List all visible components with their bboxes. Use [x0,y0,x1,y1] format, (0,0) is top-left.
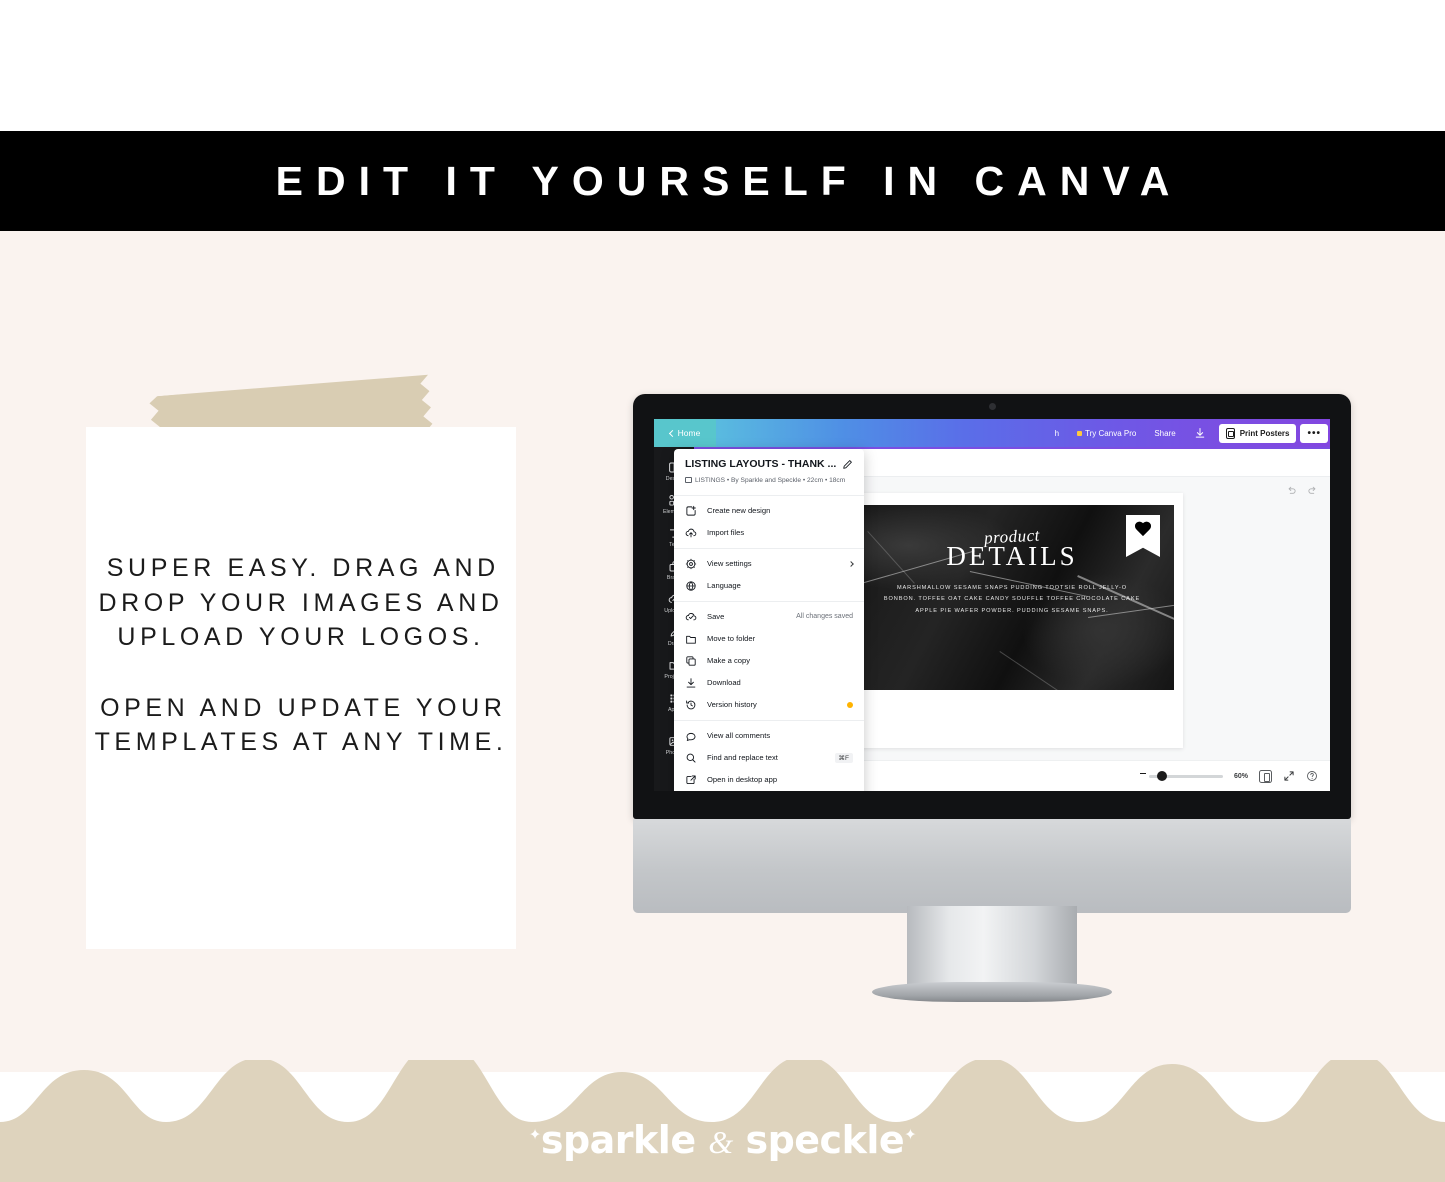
menu-item-language[interactable]: Language [674,575,864,597]
menu-label: Move to folder [707,634,853,643]
save-status-text: All changes saved [796,613,853,620]
menu-item-save[interactable]: Save All changes saved [674,606,864,628]
logo-part-1: sparkle [541,1118,696,1162]
menu-label: Make a copy [707,656,853,665]
design-page[interactable]: product DETAILS MARSHMALLOW SESAME SNAPS… [841,493,1183,748]
help-circle-icon[interactable] [1306,770,1318,782]
create-new-design-icon [685,505,697,517]
design-options-menu[interactable]: LISTING LAYOUTS - THANK ... LISTINGS • B… [674,449,864,791]
pages-icon[interactable] [1259,770,1272,783]
canva-top-bar: Home h Try Canva Pro Share [654,419,1330,447]
imac-mockup: Home h Try Canva Pro Share [633,394,1351,910]
top-white-strip [0,0,1445,131]
brand-logo: ✦sparkle & speckle✦ [0,1118,1445,1162]
download-icon [685,677,697,689]
zoom-level-label: 60% [1234,773,1248,780]
undo-redo-group [1286,485,1318,496]
print-posters-button[interactable]: Print Posters [1219,424,1297,443]
chevron-right-icon [848,561,854,567]
menu-item-find-and-replace-text[interactable]: Find and replace text ⌘F [674,747,864,769]
search-icon [685,752,697,764]
menu-item-view-settings[interactable]: View settings [674,553,864,575]
monitor-chin [633,819,1351,913]
menu-label: Version history [707,700,837,709]
copy-icon [685,655,697,667]
try-canva-pro-button[interactable]: Try Canva Pro [1068,419,1145,447]
marble-crack [1000,651,1067,690]
download-button[interactable] [1185,419,1215,447]
more-options-button[interactable]: ••• [1300,424,1328,443]
menu-group-3: Save All changes saved Move to folder [674,602,864,720]
logo-ampersand: & [708,1124,732,1160]
expand-icon[interactable] [1283,770,1295,782]
menu-item-version-history[interactable]: Version history [674,694,864,716]
redo-icon[interactable] [1307,485,1318,496]
menu-group-1: Create new design Import files [674,496,864,548]
monitor-screen: Home h Try Canva Pro Share [654,419,1330,791]
menu-item-view-all-comments[interactable]: View all comments [674,725,864,747]
home-button-label: Home [678,428,701,438]
headline-text: EDIT IT YOURSELF IN CANVA [263,158,1183,205]
comment-icon [685,730,697,742]
menu-label: Find and replace text [707,753,825,762]
menu-item-make-a-copy[interactable]: Make a copy [674,650,864,672]
download-icon [1194,427,1206,439]
shortcut-badge: ⌘F [835,753,853,763]
menu-label: Language [707,581,853,590]
menu-group-4: View all comments Find and replace text … [674,721,864,791]
external-link-icon [685,774,697,786]
zoom-slider[interactable] [1149,775,1223,778]
sparkle-decoration-icon: ✦ [904,1125,916,1143]
home-button[interactable]: Home [654,419,716,447]
cloud-check-icon [685,611,697,623]
menu-item-create-new-design[interactable]: Create new design [674,500,864,522]
sparkle-decoration-icon: ✦ [529,1125,541,1143]
promo-text-card: SUPER EASY. DRAG AND DROP YOUR IMAGES AN… [86,427,516,949]
menu-label: View all comments [707,731,853,740]
zoom-out-icon[interactable] [1140,773,1146,775]
try-canva-pro-label: Try Canva Pro [1085,429,1136,438]
folder-icon [685,633,697,645]
print-posters-label: Print Posters [1240,429,1290,438]
monitor-stand-foot [872,982,1112,1002]
pro-badge-dot-icon [847,702,853,708]
menu-label: Import files [707,528,853,537]
import-files-icon [685,527,697,539]
monitor-bezel: Home h Try Canva Pro Share [633,394,1351,819]
menu-label: Create new design [707,506,853,515]
menu-label: View settings [707,559,839,568]
menu-label: Save [707,612,786,621]
share-button[interactable]: Share [1145,419,1184,447]
history-icon [685,699,697,711]
promo-paragraph-2: OPEN AND UPDATE YOUR TEMPLATES AT ANY TI… [86,691,516,760]
zoom-slider-knob[interactable] [1157,771,1167,781]
webcam-icon [989,403,996,410]
menu-label: Download [707,678,853,687]
menu-label: Open in desktop app [707,775,853,784]
canva-body: Design Elements [654,447,1330,791]
promo-paragraph-1: SUPER EASY. DRAG AND DROP YOUR IMAGES AN… [86,551,516,655]
topbar-item-h[interactable]: h [1046,419,1068,447]
menu-item-open-in-desktop-app[interactable]: Open in desktop app [674,769,864,791]
more-horizontal-icon: ••• [1307,428,1321,439]
design-subtitle-row: LISTINGS • By Sparkle and Speckle • 22cm… [685,475,853,487]
gear-icon [685,558,697,570]
pencil-icon[interactable] [842,459,853,470]
design-title: LISTING LAYOUTS - THANK ... [685,458,836,470]
design-subtitle: LISTINGS • By Sparkle and Speckle • 22cm… [695,475,845,487]
topbar-item-h-label: h [1055,429,1059,438]
crown-badge-icon [1077,431,1082,436]
design-artwork[interactable]: product DETAILS MARSHMALLOW SESAME SNAPS… [850,505,1174,690]
print-icon [1226,428,1235,439]
menu-header: LISTING LAYOUTS - THANK ... LISTINGS • B… [674,449,864,495]
undo-icon[interactable] [1286,485,1297,496]
share-label: Share [1154,429,1175,438]
globe-icon [685,580,697,592]
menu-item-move-to-folder[interactable]: Move to folder [674,628,864,650]
headline-banner: EDIT IT YOURSELF IN CANVA [0,131,1445,231]
folder-icon [685,477,692,483]
chevron-left-icon [669,429,676,436]
design-title-text: DETAILS [850,541,1174,572]
design-body-text: MARSHMALLOW SESAME SNAPS PUDDING TOOTSIE… [882,583,1142,617]
menu-item-import-files[interactable]: Import files [674,522,864,544]
menu-group-2: View settings Language [674,549,864,601]
menu-item-download[interactable]: Download [674,672,864,694]
logo-part-2: speckle [745,1118,904,1162]
